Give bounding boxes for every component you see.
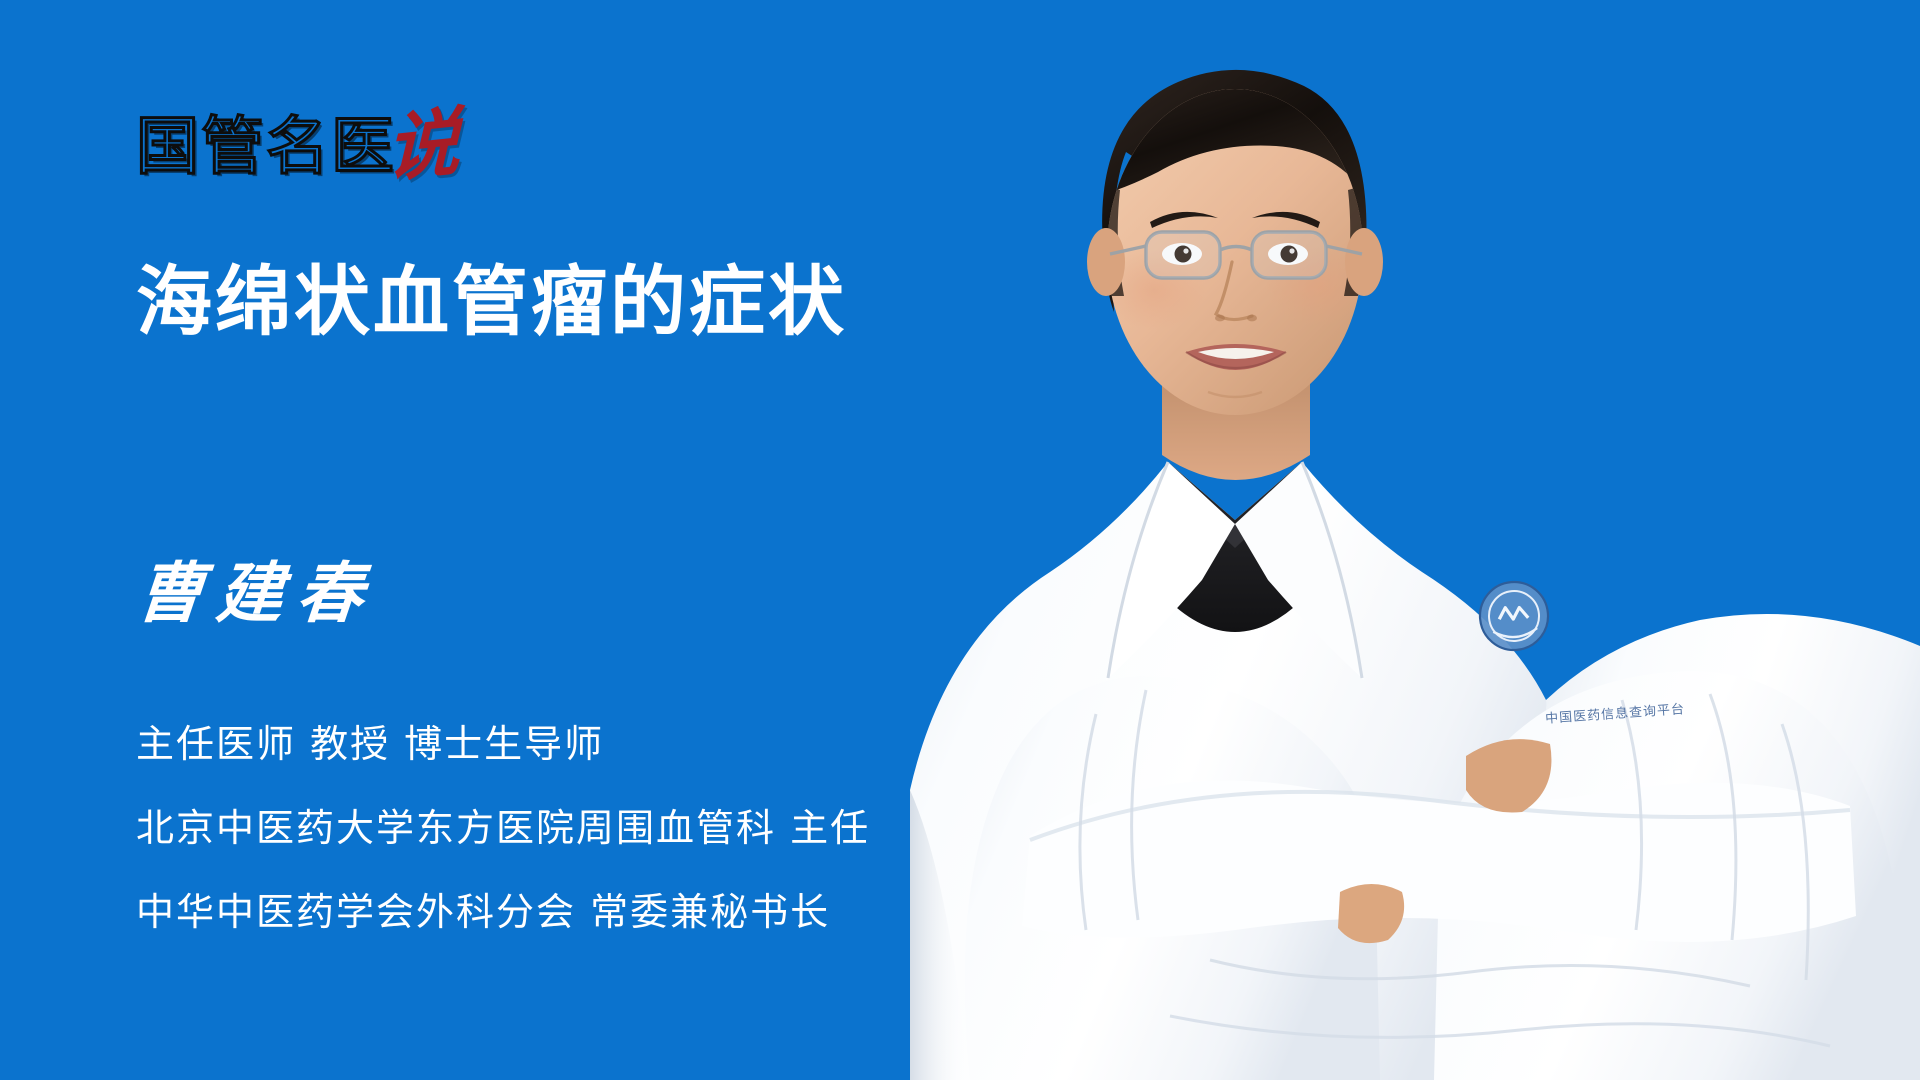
page-title: 海绵状血管瘤的症状	[136, 257, 847, 347]
doctor-photo	[910, 0, 1920, 1080]
credential-line: 北京中医药大学东方医院周围血管科 主任	[136, 786, 996, 870]
doctor-name: 曹建春	[134, 560, 380, 626]
credential-line: 中华中医药学会外科分会 常委兼秘书长	[136, 870, 996, 954]
brand-logo-accent-text: 说	[386, 108, 460, 184]
doctor-credentials: 主任医师 教授 博士生导师 北京中医药大学东方医院周围血管科 主任 中华中医药学…	[136, 702, 996, 954]
slide-canvas: 中国医药信息查询平台 国管名医 说 海绵状血管瘤的症状 曹建春 主任医师 教授 …	[0, 0, 1920, 1080]
brand-logo-main-text: 国管名医	[136, 115, 396, 178]
coat-badge-caption: 中国医药信息查询平台	[1545, 698, 1686, 727]
credential-line: 主任医师 教授 博士生导师	[136, 702, 996, 786]
brand-logo: 国管名医 说	[136, 96, 460, 178]
